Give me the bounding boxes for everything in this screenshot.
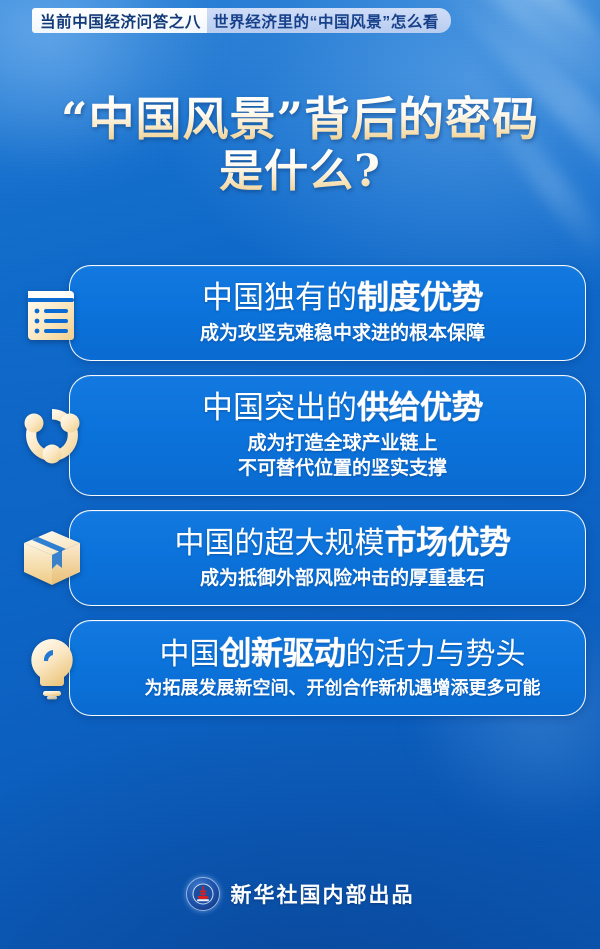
headline-highlight: 供给优势 [357, 389, 483, 425]
point-card: 中国独有的制度优势 成为攻坚克难稳中求进的根本保障 [69, 265, 586, 361]
point-subtitle-line: 成为抵御外部风险冲击的厚重基石 [116, 566, 569, 591]
headline-highlight: 创新驱动 [219, 635, 345, 671]
banner-topic-label: 世界经济里的“中国风景”怎么看 [207, 8, 451, 33]
point-subtitle: 成为攻坚克难稳中求进的根本保障 [116, 321, 569, 346]
point-headline: 中国独有的制度优势 [116, 280, 569, 316]
point-subtitle-line: 为拓展发展新空间、开创合作新机遇增添更多可能 [116, 677, 569, 701]
points-list: 中国独有的制度优势 成为攻坚克难稳中求进的根本保障 [0, 265, 600, 730]
headline-highlight: 市场优势 [384, 524, 510, 560]
point-card: 中国的超大规模市场优势 成为抵御外部风险冲击的厚重基石 [69, 510, 586, 606]
page-title-line-2: 是什么? [0, 146, 600, 198]
point-subtitle-line: 成为打造全球产业链上 [116, 431, 569, 456]
package-box-icon [16, 520, 88, 596]
banner-series-label: 当前中国经济问答之八 [32, 8, 207, 33]
infographic-poster: 当前中国经济问答之八 世界经济里的“中国风景”怎么看 “中国风景”背后的密码 是… [0, 0, 600, 949]
headline-prefix: 中国突出的 [202, 390, 357, 426]
headline-prefix: 中国的超大规模 [174, 526, 384, 561]
headline-prefix: 中国独有的 [202, 280, 357, 316]
point-card: 中国创新驱动的活力与势头 为拓展发展新空间、开创合作新机遇增添更多可能 [69, 620, 586, 716]
list-item: 中国的超大规模市场优势 成为抵御外部风险冲击的厚重基石 [0, 510, 600, 606]
point-headline: 中国的超大规模市场优势 [116, 525, 569, 561]
lightbulb-icon [16, 630, 88, 706]
point-headline: 中国突出的供给优势 [116, 390, 569, 426]
list-item: 中国独有的制度优势 成为攻坚克难稳中求进的根本保障 [0, 265, 600, 361]
point-subtitle: 成为抵御外部风险冲击的厚重基石 [116, 566, 569, 591]
point-subtitle-line: 不可替代位置的坚实支撑 [116, 456, 569, 481]
notebook-list-icon [16, 275, 88, 351]
point-subtitle: 为拓展发展新空间、开创合作新机遇增添更多可能 [116, 677, 569, 701]
xinhua-logo [186, 877, 220, 911]
page-title: “中国风景”背后的密码 是什么? [0, 92, 600, 198]
footer-text: 新华社国内部出品 [231, 879, 415, 909]
footer: 新华社国内部出品 [0, 877, 600, 911]
list-item: 中国创新驱动的活力与势头 为拓展发展新空间、开创合作新机遇增添更多可能 [0, 620, 600, 716]
point-headline: 中国创新驱动的活力与势头 [116, 636, 569, 672]
headline-suffix: 的活力与势头 [346, 637, 526, 672]
headline-highlight: 制度优势 [357, 279, 483, 315]
topic-banner: 当前中国经济问答之八 世界经济里的“中国风景”怎么看 [32, 8, 451, 33]
page-title-line-1: “中国风景”背后的密码 [0, 92, 600, 146]
list-item: 中国突出的供给优势 成为打造全球产业链上 不可替代位置的坚实支撑 [0, 375, 600, 496]
point-card: 中国突出的供给优势 成为打造全球产业链上 不可替代位置的坚实支撑 [69, 375, 586, 496]
network-nodes-icon [16, 397, 88, 473]
headline-prefix: 中国 [159, 637, 219, 672]
point-subtitle: 成为打造全球产业链上 不可替代位置的坚实支撑 [116, 431, 569, 481]
point-subtitle-line: 成为攻坚克难稳中求进的根本保障 [116, 321, 569, 346]
